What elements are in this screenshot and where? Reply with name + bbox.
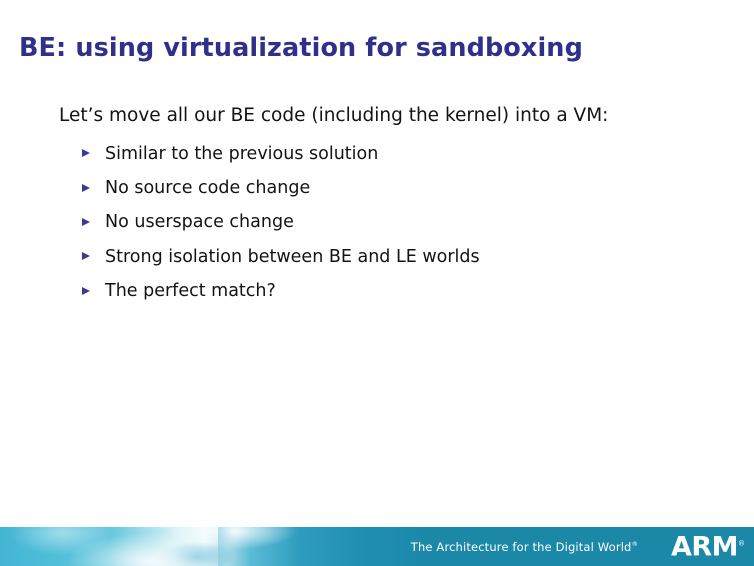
list-item: No source code change [82, 171, 754, 205]
triangle-bullet-icon [82, 184, 90, 192]
list-item: The perfect match? [82, 274, 754, 308]
arm-logo: ARM® [671, 533, 745, 560]
triangle-bullet-icon [82, 252, 90, 260]
slide-content: Let’s move all our BE code (including th… [0, 104, 754, 308]
registered-mark-icon: ® [632, 540, 639, 548]
triangle-bullet-icon [82, 287, 90, 295]
list-item-label: The perfect match? [105, 281, 276, 301]
list-item-label: Similar to the previous solution [105, 144, 378, 164]
footer-tagline-text: The Architecture for the Digital World [411, 540, 632, 554]
list-item: No userspace change [82, 205, 754, 239]
arm-logo-text: ARM [671, 531, 738, 562]
cloud-artwork-image [0, 527, 430, 566]
slide-footer: The Architecture for the Digital World® … [0, 527, 754, 566]
triangle-bullet-icon [82, 218, 90, 226]
footer-tagline: The Architecture for the Digital World® [411, 540, 638, 554]
list-item-label: No userspace change [105, 212, 294, 232]
page-title: BE: using virtualization for sandboxing [19, 34, 583, 62]
list-item: Similar to the previous solution [82, 137, 754, 171]
slide: BE: using virtualization for sandboxing … [0, 0, 754, 566]
triangle-bullet-icon [82, 149, 90, 157]
list-item: Strong isolation between BE and LE world… [82, 240, 754, 274]
list-item-label: Strong isolation between BE and LE world… [105, 247, 480, 267]
lead-paragraph: Let’s move all our BE code (including th… [59, 104, 754, 128]
bullet-list: Similar to the previous solution No sour… [0, 137, 754, 308]
registered-mark-icon: ® [738, 539, 745, 547]
list-item-label: No source code change [105, 178, 310, 198]
